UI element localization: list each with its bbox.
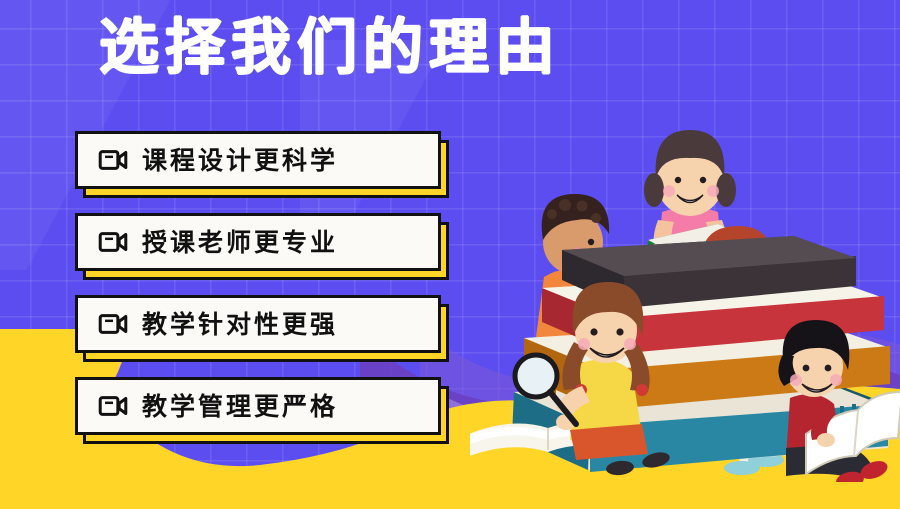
feature-item-1[interactable]: 课程设计更科学 <box>75 131 441 189</box>
feature-label: 课程设计更科学 <box>142 148 338 173</box>
feature-card[interactable]: 授课老师更专业 <box>75 213 441 271</box>
feature-label: 教学针对性更强 <box>142 312 338 337</box>
video-camera-icon <box>98 148 128 172</box>
feature-card[interactable]: 教学针对性更强 <box>75 295 441 353</box>
video-camera-icon <box>98 394 128 418</box>
banner-canvas: 选择我们的理由 课程设计更科学 授课老师更专业 <box>0 0 900 509</box>
feature-list: 课程设计更科学 授课老师更专业 教学 <box>75 131 441 459</box>
feature-label: 教学管理更严格 <box>142 394 338 419</box>
feature-item-4[interactable]: 教学管理更严格 <box>75 377 441 435</box>
video-camera-icon <box>98 312 128 336</box>
feature-item-2[interactable]: 授课老师更专业 <box>75 213 441 271</box>
page-title: 选择我们的理由 <box>0 16 660 79</box>
feature-label: 授课老师更专业 <box>142 230 338 255</box>
feature-card[interactable]: 教学管理更严格 <box>75 377 441 435</box>
feature-card[interactable]: 课程设计更科学 <box>75 131 441 189</box>
video-camera-icon <box>98 230 128 254</box>
feature-item-3[interactable]: 教学针对性更强 <box>75 295 441 353</box>
illustration-children-reading <box>470 92 900 482</box>
